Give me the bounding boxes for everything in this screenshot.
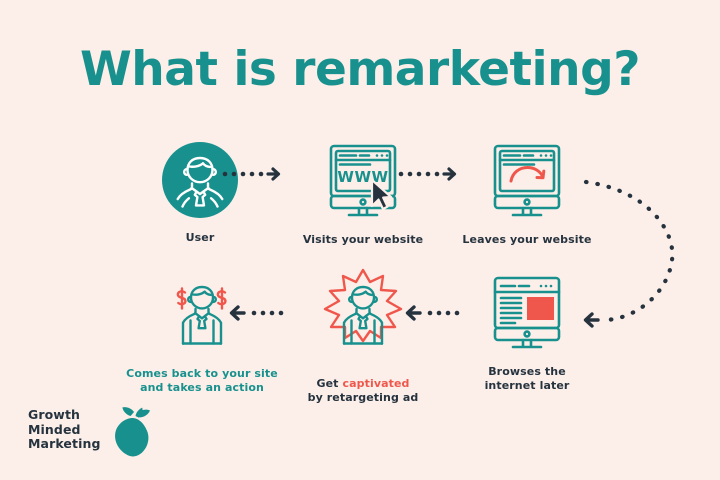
starburst-shape	[325, 270, 401, 341]
flow-step-captivated: Get captivated by retargeting ad	[288, 268, 438, 405]
connector-user-to-visits	[222, 163, 282, 189]
connector-leaves-to-browses	[576, 168, 696, 337]
connector-captivated-to-comesback	[228, 302, 284, 328]
exit-curve-arrow-icon	[511, 168, 544, 182]
beet-leaf-icon	[104, 404, 160, 466]
dollar-sign-left	[178, 289, 186, 309]
brand-logo: Growth Minded Marketing	[28, 404, 168, 466]
connector-browses-to-captivated	[404, 302, 460, 328]
label-prefix: Get	[316, 377, 342, 390]
flow-step-label: Comes back to your site and takes an act…	[118, 367, 286, 395]
flow-step-user: User	[130, 140, 270, 245]
flow-step-label: Get captivated by retargeting ad	[288, 363, 438, 405]
ad-block	[527, 297, 554, 320]
monitor-screen-text: WWW	[337, 168, 388, 186]
brand-logo-text: Growth Minded Marketing	[28, 408, 101, 452]
flow-step-label: Visits your website	[288, 233, 438, 247]
label-suffix: by retargeting ad	[308, 391, 419, 404]
flow-step-label: User	[130, 231, 270, 245]
infographic-canvas: What is remarketing? User	[0, 0, 720, 480]
label-accent: captivated	[342, 377, 409, 390]
flow-step-comesback: Comes back to your site and takes an act…	[118, 272, 286, 395]
page-title: What is remarketing?	[0, 42, 720, 98]
flow-step-visits: WWW Visits your website	[288, 140, 438, 247]
dollar-sign-right	[218, 289, 226, 309]
connector-visits-to-leaves	[398, 163, 458, 189]
flow-step-label: Browses the internet later	[452, 365, 602, 393]
